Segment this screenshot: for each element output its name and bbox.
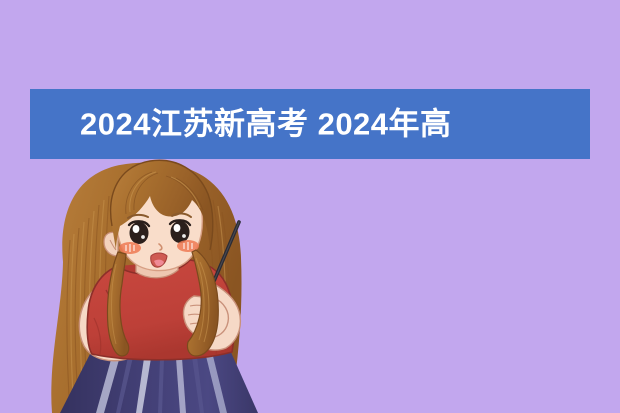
title-banner: 2024江苏新高考 2024年高: [30, 89, 590, 159]
illustration-cartoon-girl: [0, 0, 620, 413]
page-root: 2024江苏新高考 2024年高: [0, 0, 620, 413]
blush-left: [119, 242, 141, 254]
page-title: 2024江苏新高考 2024年高: [80, 109, 452, 140]
